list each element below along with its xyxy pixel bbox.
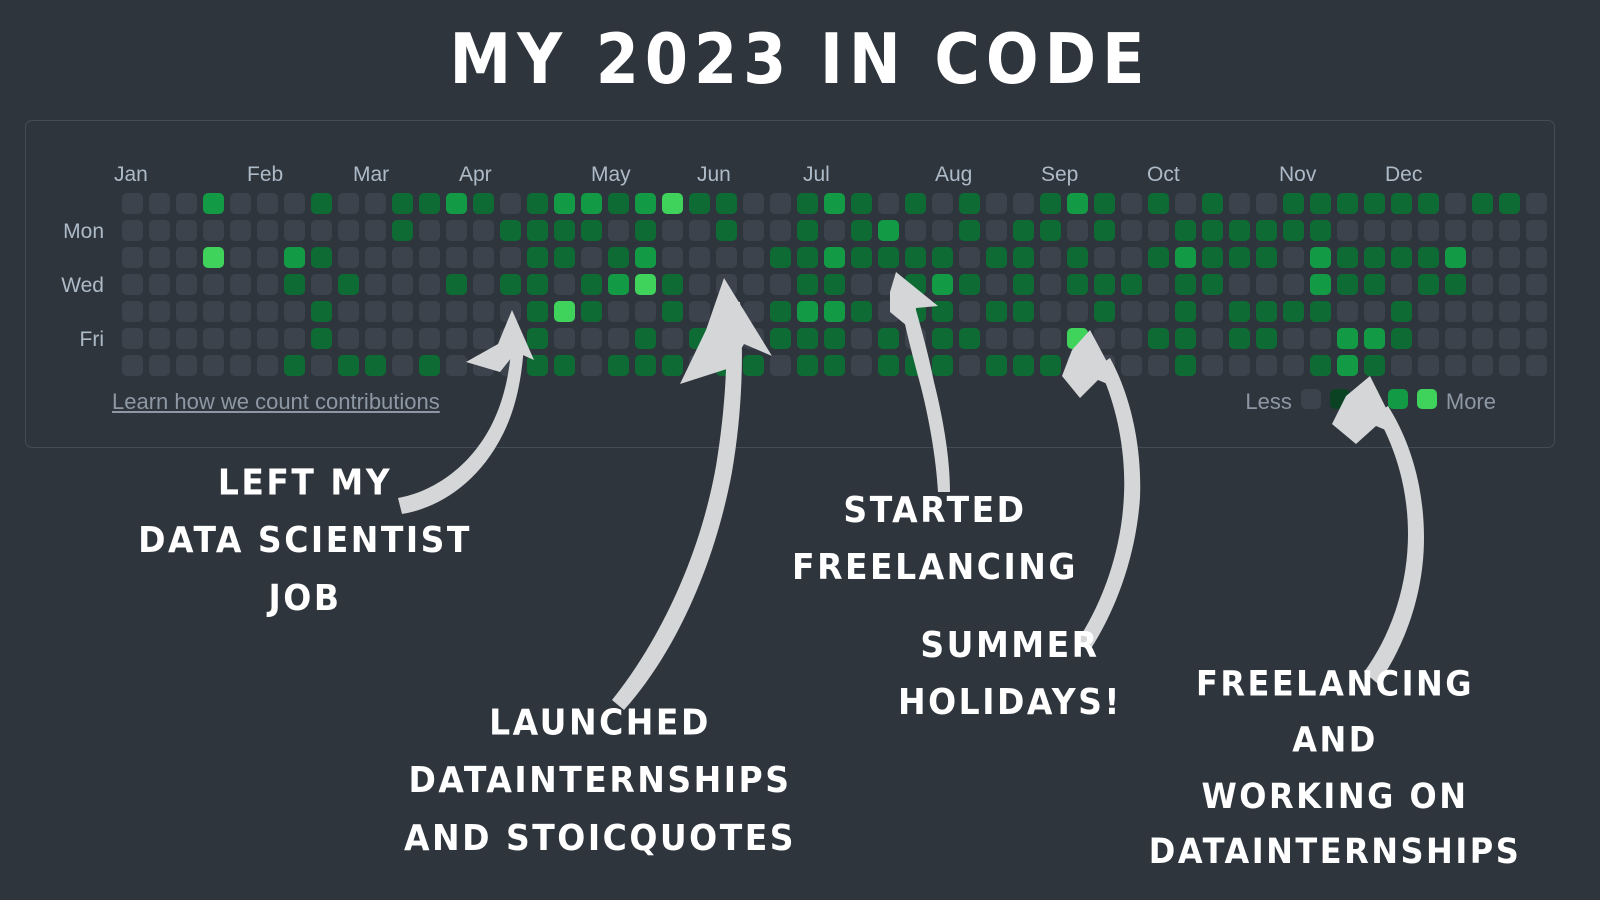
contribution-cell[interactable]	[824, 193, 845, 214]
contribution-cell[interactable]	[446, 301, 467, 322]
contribution-cell[interactable]	[986, 274, 1007, 295]
contribution-cell[interactable]	[905, 328, 926, 349]
contribution-cell[interactable]	[770, 220, 791, 241]
contribution-cell[interactable]	[1310, 301, 1331, 322]
contribution-cell[interactable]	[581, 274, 602, 295]
contribution-cell[interactable]	[1445, 328, 1466, 349]
contribution-cell[interactable]	[1013, 355, 1034, 376]
contribution-cell[interactable]	[1148, 193, 1169, 214]
contribution-cell[interactable]	[608, 355, 629, 376]
contribution-cell[interactable]	[932, 355, 953, 376]
contribution-cell[interactable]	[824, 274, 845, 295]
contribution-cell[interactable]	[1499, 328, 1520, 349]
contribution-cell[interactable]	[770, 193, 791, 214]
contribution-cell[interactable]	[1148, 274, 1169, 295]
contribution-cell[interactable]	[284, 355, 305, 376]
contribution-cell[interactable]	[311, 193, 332, 214]
contribution-cell[interactable]	[662, 220, 683, 241]
contribution-cell[interactable]	[473, 193, 494, 214]
contribution-cell[interactable]	[446, 247, 467, 268]
contribution-cell[interactable]	[635, 247, 656, 268]
contribution-cell[interactable]	[230, 355, 251, 376]
contribution-cell[interactable]	[338, 301, 359, 322]
contribution-cell[interactable]	[284, 220, 305, 241]
contribution-cell[interactable]	[959, 274, 980, 295]
contribution-cell[interactable]	[1094, 301, 1115, 322]
contribution-cell[interactable]	[635, 274, 656, 295]
contribution-cell[interactable]	[1094, 247, 1115, 268]
contribution-cell[interactable]	[1121, 220, 1142, 241]
contribution-cell[interactable]	[932, 274, 953, 295]
contribution-cell[interactable]	[1499, 301, 1520, 322]
contribution-cell[interactable]	[986, 328, 1007, 349]
contribution-cell[interactable]	[635, 193, 656, 214]
contribution-cell[interactable]	[1418, 355, 1439, 376]
contribution-cell[interactable]	[851, 301, 872, 322]
contribution-cell[interactable]	[851, 355, 872, 376]
contribution-cell[interactable]	[500, 193, 521, 214]
contribution-cell[interactable]	[176, 301, 197, 322]
contribution-cell[interactable]	[1040, 193, 1061, 214]
contribution-cell[interactable]	[1175, 247, 1196, 268]
contribution-cell[interactable]	[1499, 247, 1520, 268]
contribution-cell[interactable]	[1445, 193, 1466, 214]
contribution-cell[interactable]	[1310, 355, 1331, 376]
contribution-cell[interactable]	[635, 355, 656, 376]
contribution-cell[interactable]	[392, 247, 413, 268]
contribution-cell[interactable]	[257, 355, 278, 376]
contribution-cell[interactable]	[1310, 274, 1331, 295]
contribution-cell[interactable]	[959, 301, 980, 322]
contribution-cell[interactable]	[689, 301, 710, 322]
contribution-cell[interactable]	[1229, 301, 1250, 322]
contribution-cell[interactable]	[824, 301, 845, 322]
contribution-cell[interactable]	[176, 247, 197, 268]
contribution-cell[interactable]	[1121, 274, 1142, 295]
contribution-cell[interactable]	[1526, 193, 1547, 214]
contribution-cell[interactable]	[149, 355, 170, 376]
contribution-cell[interactable]	[1418, 220, 1439, 241]
contribution-cell[interactable]	[1013, 328, 1034, 349]
contribution-cell[interactable]	[527, 355, 548, 376]
contribution-cell[interactable]	[932, 193, 953, 214]
contribution-cell[interactable]	[743, 274, 764, 295]
contribution-cell[interactable]	[122, 274, 143, 295]
contribution-cell[interactable]	[1040, 355, 1061, 376]
contribution-cell[interactable]	[662, 247, 683, 268]
contribution-cell[interactable]	[284, 301, 305, 322]
contribution-cell[interactable]	[230, 301, 251, 322]
contribution-cell[interactable]	[230, 328, 251, 349]
contribution-cell[interactable]	[1148, 220, 1169, 241]
contribution-cell[interactable]	[1526, 220, 1547, 241]
contribution-cell[interactable]	[473, 247, 494, 268]
contribution-cell[interactable]	[527, 301, 548, 322]
contribution-cell[interactable]	[1391, 247, 1412, 268]
contribution-cell[interactable]	[1364, 301, 1385, 322]
contribution-cell[interactable]	[716, 193, 737, 214]
contribution-cell[interactable]	[743, 220, 764, 241]
contribution-cell[interactable]	[1364, 355, 1385, 376]
contribution-cell[interactable]	[716, 247, 737, 268]
contribution-cell[interactable]	[824, 328, 845, 349]
contribution-cell[interactable]	[1472, 193, 1493, 214]
contribution-cell[interactable]	[500, 355, 521, 376]
contribution-cell[interactable]	[851, 328, 872, 349]
contribution-cell[interactable]	[311, 220, 332, 241]
contribution-cell[interactable]	[932, 220, 953, 241]
contribution-cell[interactable]	[743, 328, 764, 349]
contribution-cell[interactable]	[284, 274, 305, 295]
contribution-cell[interactable]	[419, 220, 440, 241]
contribution-cell[interactable]	[230, 220, 251, 241]
contribution-cell[interactable]	[959, 328, 980, 349]
contribution-cell[interactable]	[203, 193, 224, 214]
contribution-cell[interactable]	[635, 301, 656, 322]
contribution-cell[interactable]	[257, 328, 278, 349]
contribution-cell[interactable]	[608, 328, 629, 349]
contribution-cell[interactable]	[230, 247, 251, 268]
contribution-cell[interactable]	[500, 247, 521, 268]
contribution-cell[interactable]	[419, 274, 440, 295]
contribution-cell[interactable]	[689, 274, 710, 295]
contribution-cell[interactable]	[1472, 247, 1493, 268]
contribution-cell[interactable]	[1121, 247, 1142, 268]
learn-how-we-count-link[interactable]: Learn how we count contributions	[112, 389, 440, 415]
contribution-cell[interactable]	[1283, 328, 1304, 349]
contribution-cell[interactable]	[338, 247, 359, 268]
contribution-cell[interactable]	[1256, 301, 1277, 322]
contribution-cell[interactable]	[1229, 220, 1250, 241]
contribution-cell[interactable]	[608, 274, 629, 295]
contribution-cell[interactable]	[959, 193, 980, 214]
contribution-cell[interactable]	[446, 328, 467, 349]
contribution-cell[interactable]	[1283, 193, 1304, 214]
contribution-cell[interactable]	[203, 247, 224, 268]
contribution-cell[interactable]	[1337, 274, 1358, 295]
contribution-cell[interactable]	[1013, 220, 1034, 241]
contribution-cell[interactable]	[1445, 220, 1466, 241]
contribution-cell[interactable]	[257, 247, 278, 268]
contribution-cell[interactable]	[662, 328, 683, 349]
contribution-cell[interactable]	[1202, 355, 1223, 376]
contribution-cell[interactable]	[311, 328, 332, 349]
contribution-cell[interactable]	[1175, 355, 1196, 376]
contribution-cell[interactable]	[581, 220, 602, 241]
contribution-cell[interactable]	[1094, 328, 1115, 349]
contribution-cell[interactable]	[608, 193, 629, 214]
contribution-cell[interactable]	[905, 220, 926, 241]
contribution-cell[interactable]	[284, 247, 305, 268]
contribution-cell[interactable]	[1418, 328, 1439, 349]
contribution-cell[interactable]	[1391, 274, 1412, 295]
contribution-cell[interactable]	[554, 274, 575, 295]
contribution-cell[interactable]	[284, 193, 305, 214]
contribution-cell[interactable]	[122, 301, 143, 322]
contribution-cell[interactable]	[1202, 220, 1223, 241]
contribution-cell[interactable]	[878, 274, 899, 295]
contribution-cell[interactable]	[1175, 301, 1196, 322]
contribution-cell[interactable]	[1094, 355, 1115, 376]
contribution-cell[interactable]	[149, 274, 170, 295]
contribution-cell[interactable]	[338, 193, 359, 214]
contribution-cell[interactable]	[581, 328, 602, 349]
contribution-cell[interactable]	[1337, 355, 1358, 376]
contribution-cell[interactable]	[797, 247, 818, 268]
contribution-cell[interactable]	[1418, 274, 1439, 295]
contribution-cell[interactable]	[365, 247, 386, 268]
contribution-cell[interactable]	[446, 355, 467, 376]
contribution-cell[interactable]	[230, 193, 251, 214]
contribution-cell[interactable]	[878, 328, 899, 349]
contribution-cell[interactable]	[257, 220, 278, 241]
contribution-cell[interactable]	[1310, 193, 1331, 214]
contribution-cell[interactable]	[1418, 301, 1439, 322]
contribution-cell[interactable]	[1526, 247, 1547, 268]
contribution-cell[interactable]	[797, 193, 818, 214]
contribution-cell[interactable]	[149, 247, 170, 268]
contribution-cell[interactable]	[1148, 355, 1169, 376]
contribution-cell[interactable]	[1283, 301, 1304, 322]
contribution-cell[interactable]	[1418, 247, 1439, 268]
contribution-cell[interactable]	[284, 328, 305, 349]
contribution-cell[interactable]	[824, 355, 845, 376]
contribution-cell[interactable]	[257, 274, 278, 295]
contribution-cell[interactable]	[203, 328, 224, 349]
contribution-cell[interactable]	[932, 328, 953, 349]
contribution-cell[interactable]	[905, 301, 926, 322]
contribution-cell[interactable]	[473, 274, 494, 295]
contribution-cell[interactable]	[1040, 247, 1061, 268]
contribution-cell[interactable]	[662, 274, 683, 295]
contribution-cell[interactable]	[1013, 193, 1034, 214]
contribution-cell[interactable]	[419, 247, 440, 268]
contribution-cell[interactable]	[473, 355, 494, 376]
contribution-cell[interactable]	[581, 193, 602, 214]
contribution-cell[interactable]	[1391, 193, 1412, 214]
contribution-cell[interactable]	[1094, 193, 1115, 214]
contribution-cell[interactable]	[1040, 274, 1061, 295]
contribution-cell[interactable]	[743, 301, 764, 322]
contribution-cell[interactable]	[554, 301, 575, 322]
contribution-cell[interactable]	[1148, 328, 1169, 349]
contribution-cell[interactable]	[1283, 274, 1304, 295]
contribution-cell[interactable]	[1094, 274, 1115, 295]
contribution-cell[interactable]	[419, 301, 440, 322]
contribution-cell[interactable]	[797, 274, 818, 295]
contribution-cell[interactable]	[986, 220, 1007, 241]
contribution-cell[interactable]	[203, 274, 224, 295]
contribution-cell[interactable]	[1391, 301, 1412, 322]
contribution-cell[interactable]	[1256, 328, 1277, 349]
contribution-cell[interactable]	[1364, 247, 1385, 268]
contribution-cell[interactable]	[1067, 328, 1088, 349]
contribution-cell[interactable]	[1229, 274, 1250, 295]
contribution-cell[interactable]	[716, 355, 737, 376]
contribution-cell[interactable]	[1472, 301, 1493, 322]
contribution-cell[interactable]	[1364, 274, 1385, 295]
contribution-cell[interactable]	[338, 274, 359, 295]
contribution-cell[interactable]	[176, 220, 197, 241]
contribution-cell[interactable]	[1391, 355, 1412, 376]
contribution-cell[interactable]	[608, 220, 629, 241]
contribution-cell[interactable]	[554, 220, 575, 241]
contribution-cell[interactable]	[446, 274, 467, 295]
contribution-cell[interactable]	[203, 220, 224, 241]
contribution-cell[interactable]	[230, 274, 251, 295]
contribution-cell[interactable]	[959, 247, 980, 268]
contribution-cell[interactable]	[1310, 220, 1331, 241]
contribution-cell[interactable]	[581, 301, 602, 322]
contribution-cell[interactable]	[1445, 301, 1466, 322]
contribution-cell[interactable]	[149, 220, 170, 241]
contribution-cell[interactable]	[662, 301, 683, 322]
contribution-cell[interactable]	[1121, 328, 1142, 349]
contribution-cell[interactable]	[716, 301, 737, 322]
contribution-cell[interactable]	[878, 247, 899, 268]
contribution-cell[interactable]	[1391, 328, 1412, 349]
contribution-cell[interactable]	[1472, 355, 1493, 376]
contribution-cell[interactable]	[1337, 193, 1358, 214]
contribution-cell[interactable]	[743, 355, 764, 376]
contribution-cell[interactable]	[1256, 274, 1277, 295]
contribution-cell[interactable]	[1364, 193, 1385, 214]
contribution-cell[interactable]	[824, 247, 845, 268]
contribution-cell[interactable]	[1337, 220, 1358, 241]
contribution-cell[interactable]	[1067, 247, 1088, 268]
contribution-cell[interactable]	[1391, 220, 1412, 241]
contribution-cell[interactable]	[905, 193, 926, 214]
contribution-cell[interactable]	[1175, 220, 1196, 241]
contribution-cell[interactable]	[257, 193, 278, 214]
contribution-cell[interactable]	[500, 274, 521, 295]
contribution-cell[interactable]	[338, 328, 359, 349]
contribution-cell[interactable]	[716, 220, 737, 241]
contribution-cell[interactable]	[689, 220, 710, 241]
contribution-cell[interactable]	[743, 193, 764, 214]
contribution-cell[interactable]	[554, 355, 575, 376]
contribution-cell[interactable]	[1148, 301, 1169, 322]
contribution-cell[interactable]	[1445, 274, 1466, 295]
contribution-cell[interactable]	[527, 328, 548, 349]
contribution-cell[interactable]	[1526, 355, 1547, 376]
contribution-cell[interactable]	[1472, 328, 1493, 349]
contribution-cell[interactable]	[500, 220, 521, 241]
contribution-cell[interactable]	[149, 328, 170, 349]
contribution-cell[interactable]	[878, 193, 899, 214]
contribution-cell[interactable]	[1445, 355, 1466, 376]
contribution-cell[interactable]	[986, 301, 1007, 322]
contribution-cell[interactable]	[1040, 301, 1061, 322]
contribution-cell[interactable]	[1256, 193, 1277, 214]
contribution-cell[interactable]	[1364, 220, 1385, 241]
contribution-cell[interactable]	[446, 193, 467, 214]
contribution-cell[interactable]	[1310, 328, 1331, 349]
contribution-cell[interactable]	[1364, 328, 1385, 349]
contribution-cell[interactable]	[1310, 247, 1331, 268]
contribution-cell[interactable]	[689, 247, 710, 268]
contribution-cell[interactable]	[1499, 193, 1520, 214]
contribution-cell[interactable]	[689, 355, 710, 376]
contribution-cell[interactable]	[311, 274, 332, 295]
contribution-cell[interactable]	[527, 247, 548, 268]
contribution-cell[interactable]	[878, 220, 899, 241]
contribution-cell[interactable]	[932, 247, 953, 268]
contribution-cell[interactable]	[257, 301, 278, 322]
contribution-cell[interactable]	[365, 193, 386, 214]
contribution-cell[interactable]	[365, 220, 386, 241]
contribution-cell[interactable]	[527, 220, 548, 241]
contribution-cell[interactable]	[176, 193, 197, 214]
contribution-cell[interactable]	[176, 274, 197, 295]
contribution-cell[interactable]	[500, 328, 521, 349]
contribution-cell[interactable]	[1040, 220, 1061, 241]
contribution-cell[interactable]	[770, 274, 791, 295]
contribution-cell[interactable]	[554, 193, 575, 214]
contribution-cell[interactable]	[149, 301, 170, 322]
contribution-cell[interactable]	[1175, 328, 1196, 349]
contribution-cell[interactable]	[1499, 220, 1520, 241]
contribution-cell[interactable]	[1121, 355, 1142, 376]
contribution-grid[interactable]	[122, 193, 1547, 376]
contribution-cell[interactable]	[338, 355, 359, 376]
contribution-cell[interactable]	[608, 247, 629, 268]
contribution-cell[interactable]	[122, 193, 143, 214]
contribution-cell[interactable]	[365, 274, 386, 295]
contribution-cell[interactable]	[662, 193, 683, 214]
contribution-cell[interactable]	[1283, 355, 1304, 376]
contribution-cell[interactable]	[392, 193, 413, 214]
contribution-cell[interactable]	[1526, 301, 1547, 322]
contribution-cell[interactable]	[527, 193, 548, 214]
contribution-cell[interactable]	[608, 301, 629, 322]
contribution-cell[interactable]	[635, 220, 656, 241]
contribution-cell[interactable]	[1472, 220, 1493, 241]
contribution-cell[interactable]	[770, 247, 791, 268]
contribution-cell[interactable]	[1202, 301, 1223, 322]
contribution-cell[interactable]	[176, 328, 197, 349]
contribution-cell[interactable]	[1067, 301, 1088, 322]
contribution-cell[interactable]	[392, 355, 413, 376]
contribution-cell[interactable]	[1283, 247, 1304, 268]
contribution-cell[interactable]	[797, 220, 818, 241]
contribution-cell[interactable]	[1040, 328, 1061, 349]
contribution-cell[interactable]	[905, 247, 926, 268]
contribution-cell[interactable]	[1094, 220, 1115, 241]
contribution-cell[interactable]	[446, 220, 467, 241]
contribution-cell[interactable]	[1283, 220, 1304, 241]
contribution-cell[interactable]	[959, 355, 980, 376]
contribution-cell[interactable]	[1526, 328, 1547, 349]
contribution-cell[interactable]	[797, 355, 818, 376]
contribution-cell[interactable]	[527, 274, 548, 295]
contribution-cell[interactable]	[1526, 274, 1547, 295]
contribution-cell[interactable]	[770, 355, 791, 376]
contribution-cell[interactable]	[122, 328, 143, 349]
contribution-cell[interactable]	[1499, 274, 1520, 295]
contribution-cell[interactable]	[581, 247, 602, 268]
contribution-cell[interactable]	[1175, 274, 1196, 295]
contribution-cell[interactable]	[986, 193, 1007, 214]
contribution-cell[interactable]	[1256, 220, 1277, 241]
contribution-cell[interactable]	[392, 328, 413, 349]
contribution-cell[interactable]	[986, 247, 1007, 268]
contribution-cell[interactable]	[1256, 355, 1277, 376]
contribution-cell[interactable]	[878, 355, 899, 376]
contribution-cell[interactable]	[1013, 274, 1034, 295]
contribution-cell[interactable]	[851, 193, 872, 214]
contribution-cell[interactable]	[1067, 355, 1088, 376]
